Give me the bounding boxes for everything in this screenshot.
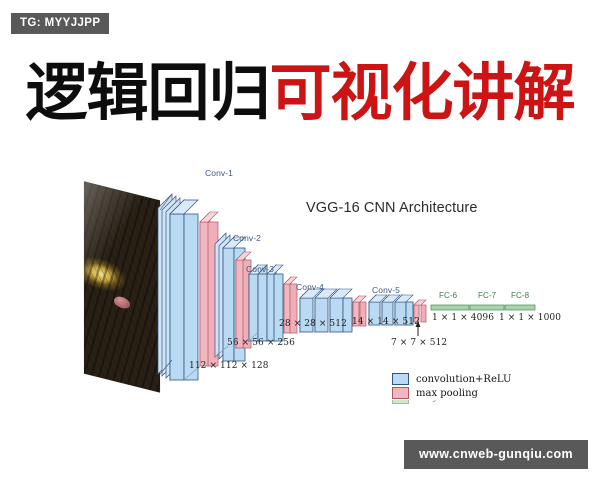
figure-legend: convolution+ReLU max pooling fully conne… <box>392 372 530 409</box>
poster-canvas: TG: MYYJJPP 逻辑回归可视化讲解 VGG-16 CNN Archite… <box>0 0 600 480</box>
dimension-label-112: 112 × 112 × 128 <box>189 361 269 371</box>
legend-item-convolution: convolution+ReLU <box>392 372 530 386</box>
fc-block-swatch-icon <box>392 400 409 404</box>
vgg16-architecture-figure: VGG-16 CNN Architecture <box>0 160 600 430</box>
layer-label-fc-8: FC-8 <box>511 291 529 300</box>
watermark-badge-bottom: www.cnweb-gunqiu.com <box>404 440 588 469</box>
dimension-label-fc1000: 1 × 1 × 1000 <box>499 313 561 323</box>
page-title-red-segment: 可视化讲解 <box>270 56 575 129</box>
dimension-label-28: 28 × 28 × 512 <box>279 319 347 329</box>
page-title: 逻辑回归可视化讲解 <box>0 62 600 124</box>
layer-label-conv-5: Conv-5 <box>372 285 400 295</box>
dimension-label-7: 7 × 7 × 512 <box>391 338 447 348</box>
layer-label-fc-6: FC-6 <box>439 291 457 300</box>
fc-layers-group <box>431 305 535 310</box>
dimension-label-fc4096: 1 × 1 × 4096 <box>432 313 494 323</box>
legend-item-maxpooling: max pooling <box>392 386 530 400</box>
pool-block-swatch-icon <box>392 387 409 399</box>
conv3-slab-group <box>249 265 283 341</box>
layer-label-conv-4: Conv-4 <box>296 282 324 292</box>
legend-label-convolution: convolution+ReLU <box>416 374 511 385</box>
conv1-slab-group <box>158 194 198 380</box>
layer-label-fc-7: FC-7 <box>478 291 496 300</box>
legend-label-fullyconnected: fully connected+ReLU <box>416 400 530 403</box>
dimension-label-14: 14 × 14 × 512 <box>352 317 420 327</box>
layer-label-conv-3: Conv-3 <box>246 264 274 274</box>
watermark-top-text: TG: MYYJJPP <box>20 17 100 29</box>
conv-block-swatch-icon <box>392 373 409 385</box>
layer-label-conv-1: Conv-1 <box>205 168 233 178</box>
layer-label-conv-2: Conv-2 <box>233 233 261 243</box>
watermark-bottom-text: www.cnweb-gunqiu.com <box>419 447 573 461</box>
watermark-badge-top: TG: MYYJJPP <box>11 13 109 34</box>
dimension-label-56: 56 × 56 × 256 <box>227 338 295 348</box>
legend-item-fullyconnected: fully connected+ReLU <box>392 400 530 409</box>
legend-label-maxpooling: max pooling <box>416 388 478 399</box>
page-title-black-segment: 逻辑回归 <box>25 56 269 129</box>
